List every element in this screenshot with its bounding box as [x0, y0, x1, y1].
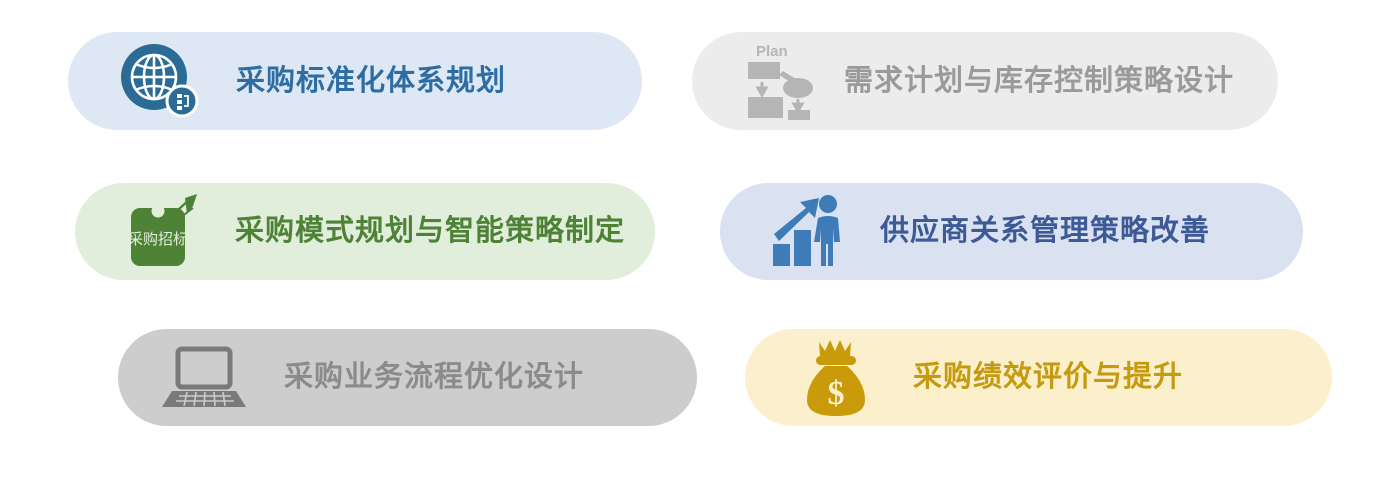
growth-chart-person-icon — [770, 194, 850, 270]
clipboard-icon-caption: 采购招标 — [128, 231, 188, 248]
money-bag-icon: $ — [803, 338, 869, 418]
pill-performance-evaluation[interactable]: $ 采购绩效评价与提升 — [745, 329, 1332, 426]
pill-label: 供应商关系管理策略改善 — [880, 217, 1210, 246]
money-bag-icon-caption: $ — [828, 375, 845, 412]
pill-label: 采购业务流程优化设计 — [284, 363, 584, 392]
diagram-canvas: 采购标准化体系规划 Plan 需求计划与库存控制策略设计 — [0, 0, 1382, 490]
plan-flowchart-icon: Plan — [740, 40, 816, 122]
pill-label: 需求计划与库存控制策略设计 — [844, 67, 1234, 96]
globe-badge-icon — [118, 42, 204, 120]
pill-label: 采购模式规划与智能策略制定 — [235, 217, 625, 246]
bidding-clipboard-icon: 采购招标 — [123, 192, 209, 272]
plan-icon-caption: Plan — [756, 43, 788, 60]
pill-supplier-relationship[interactable]: 供应商关系管理策略改善 — [720, 183, 1303, 280]
pill-label: 采购绩效评价与提升 — [913, 363, 1183, 392]
pill-label: 采购标准化体系规划 — [236, 67, 506, 96]
pill-demand-plan-inventory[interactable]: Plan 需求计划与库存控制策略设计 — [692, 32, 1278, 130]
pill-procurement-mode-strategy[interactable]: 采购招标 采购模式规划与智能策略制定 — [75, 183, 655, 280]
pill-process-optimization[interactable]: 采购业务流程优化设计 — [118, 329, 697, 426]
pill-procurement-standardization[interactable]: 采购标准化体系规划 — [68, 32, 642, 130]
laptop-icon — [162, 345, 246, 411]
